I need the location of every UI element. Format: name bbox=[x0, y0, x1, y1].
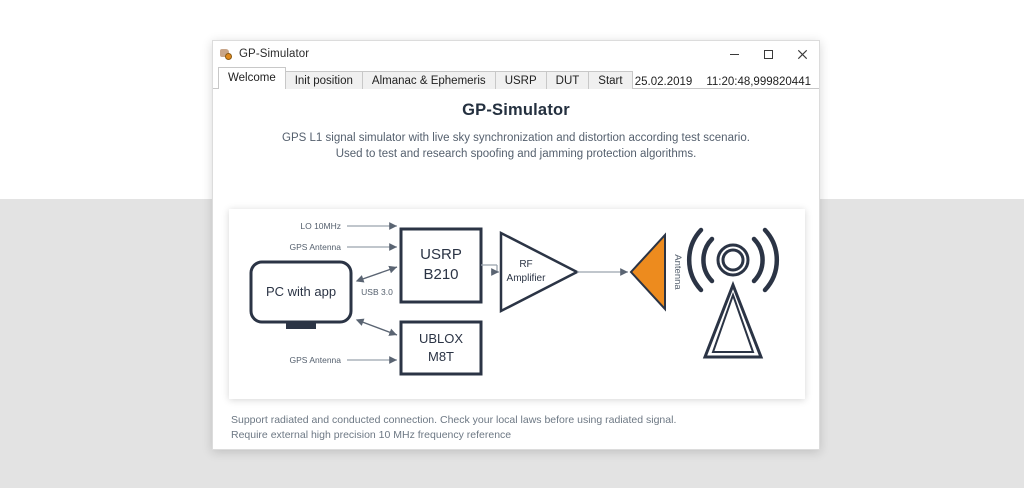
tab-almanac-ephemeris[interactable]: Almanac & Ephemeris bbox=[362, 71, 496, 89]
tab-dut[interactable]: DUT bbox=[546, 71, 590, 89]
window-controls bbox=[717, 41, 819, 67]
clock: 25.02.2019 11:20:48,999820441 bbox=[635, 76, 811, 88]
app-window: GP-Simulator bbox=[212, 40, 820, 450]
diagram-antenna-label: Antenna bbox=[672, 254, 683, 290]
diagram-node-ublox: UBLOX M8T bbox=[401, 322, 481, 374]
tab-init-position-label: Init position bbox=[295, 75, 353, 87]
app-icon-shape-b bbox=[225, 53, 232, 60]
app-icon bbox=[220, 48, 233, 61]
diagram-connection-usrp-amp bbox=[481, 265, 499, 272]
tab-init-position[interactable]: Init position bbox=[285, 71, 363, 89]
minimize-button[interactable] bbox=[717, 41, 751, 67]
diagram-amp-label-1: RF bbox=[519, 259, 532, 270]
tab-dut-label: DUT bbox=[556, 75, 580, 87]
page-subtitle-line1: GPS L1 signal simulator with live sky sy… bbox=[213, 130, 819, 146]
diagram-conn-gps-bottom-label: GPS Antenna bbox=[289, 355, 341, 365]
diagram-usrp-label-1: USRP bbox=[420, 246, 462, 263]
clock-date: 25.02.2019 bbox=[635, 76, 693, 88]
tab-welcome-label: Welcome bbox=[228, 72, 276, 84]
diagram-connection-usb: USB 3.0 bbox=[357, 267, 397, 297]
footer-note-line2: Require external high precision 10 MHz f… bbox=[231, 428, 676, 443]
diagram-node-usrp: USRP B210 bbox=[401, 229, 481, 302]
diagram-ublox-label-1: UBLOX bbox=[419, 331, 463, 346]
footer-note-line1: Support radiated and conducted connectio… bbox=[231, 413, 676, 428]
tab-start[interactable]: Start bbox=[588, 71, 632, 89]
tab-usrp[interactable]: USRP bbox=[495, 71, 547, 89]
diagram-connection-gps-top: GPS Antenna bbox=[289, 242, 397, 252]
welcome-panel: GP-Simulator GPS L1 signal simulator wit… bbox=[213, 89, 819, 449]
diagram-ublox-label-2: M8T bbox=[428, 349, 454, 364]
diagram-pc-label: PC with app bbox=[266, 284, 336, 299]
tab-strip: Welcome Init position Almanac & Ephemeri… bbox=[213, 67, 819, 89]
diagram-conn-usb-label: USB 3.0 bbox=[361, 287, 393, 297]
diagram-connection-gps-bottom: GPS Antenna bbox=[289, 355, 397, 365]
diagram-connection-ublox bbox=[357, 320, 397, 335]
tab-start-label: Start bbox=[598, 75, 622, 87]
architecture-diagram: PC with app USRP B210 UBLOX M8T R bbox=[229, 209, 805, 399]
diagram-usrp-label-2: B210 bbox=[423, 266, 458, 283]
page-title: GP-Simulator bbox=[213, 101, 819, 120]
diagram-node-pc: PC with app bbox=[251, 262, 351, 329]
footer-note: Support radiated and conducted connectio… bbox=[231, 413, 676, 443]
maximize-button[interactable] bbox=[751, 41, 785, 67]
page-subtitle: GPS L1 signal simulator with live sky sy… bbox=[213, 130, 819, 162]
diagram-amp-label-2: Amplifier bbox=[507, 273, 547, 284]
tab-usrp-label: USRP bbox=[505, 75, 537, 87]
title-bar: GP-Simulator bbox=[213, 41, 819, 67]
tab-almanac-ephemeris-label: Almanac & Ephemeris bbox=[372, 75, 486, 87]
diagram-connection-lo: LO 10MHz bbox=[300, 221, 397, 231]
tab-list: Welcome Init position Almanac & Ephemeri… bbox=[218, 67, 632, 89]
diagram-svg: PC with app USRP B210 UBLOX M8T R bbox=[229, 209, 805, 399]
window-title: GP-Simulator bbox=[239, 48, 309, 60]
diagram-conn-lo-label: LO 10MHz bbox=[300, 221, 341, 231]
diagram-node-rf-amplifier: RF Amplifier bbox=[501, 233, 577, 311]
page-subtitle-line2: Used to test and research spoofing and j… bbox=[213, 146, 819, 162]
diagram-conn-gps-top-label: GPS Antenna bbox=[289, 242, 341, 252]
clock-time: 11:20:48,999820441 bbox=[706, 76, 811, 88]
close-icon bbox=[797, 49, 808, 60]
broadcast-tower-icon bbox=[689, 230, 777, 357]
minimize-icon bbox=[729, 49, 740, 60]
diagram-node-antenna: Antenna bbox=[631, 235, 683, 309]
close-button[interactable] bbox=[785, 41, 819, 67]
maximize-icon bbox=[763, 49, 774, 60]
tab-welcome[interactable]: Welcome bbox=[218, 67, 286, 89]
